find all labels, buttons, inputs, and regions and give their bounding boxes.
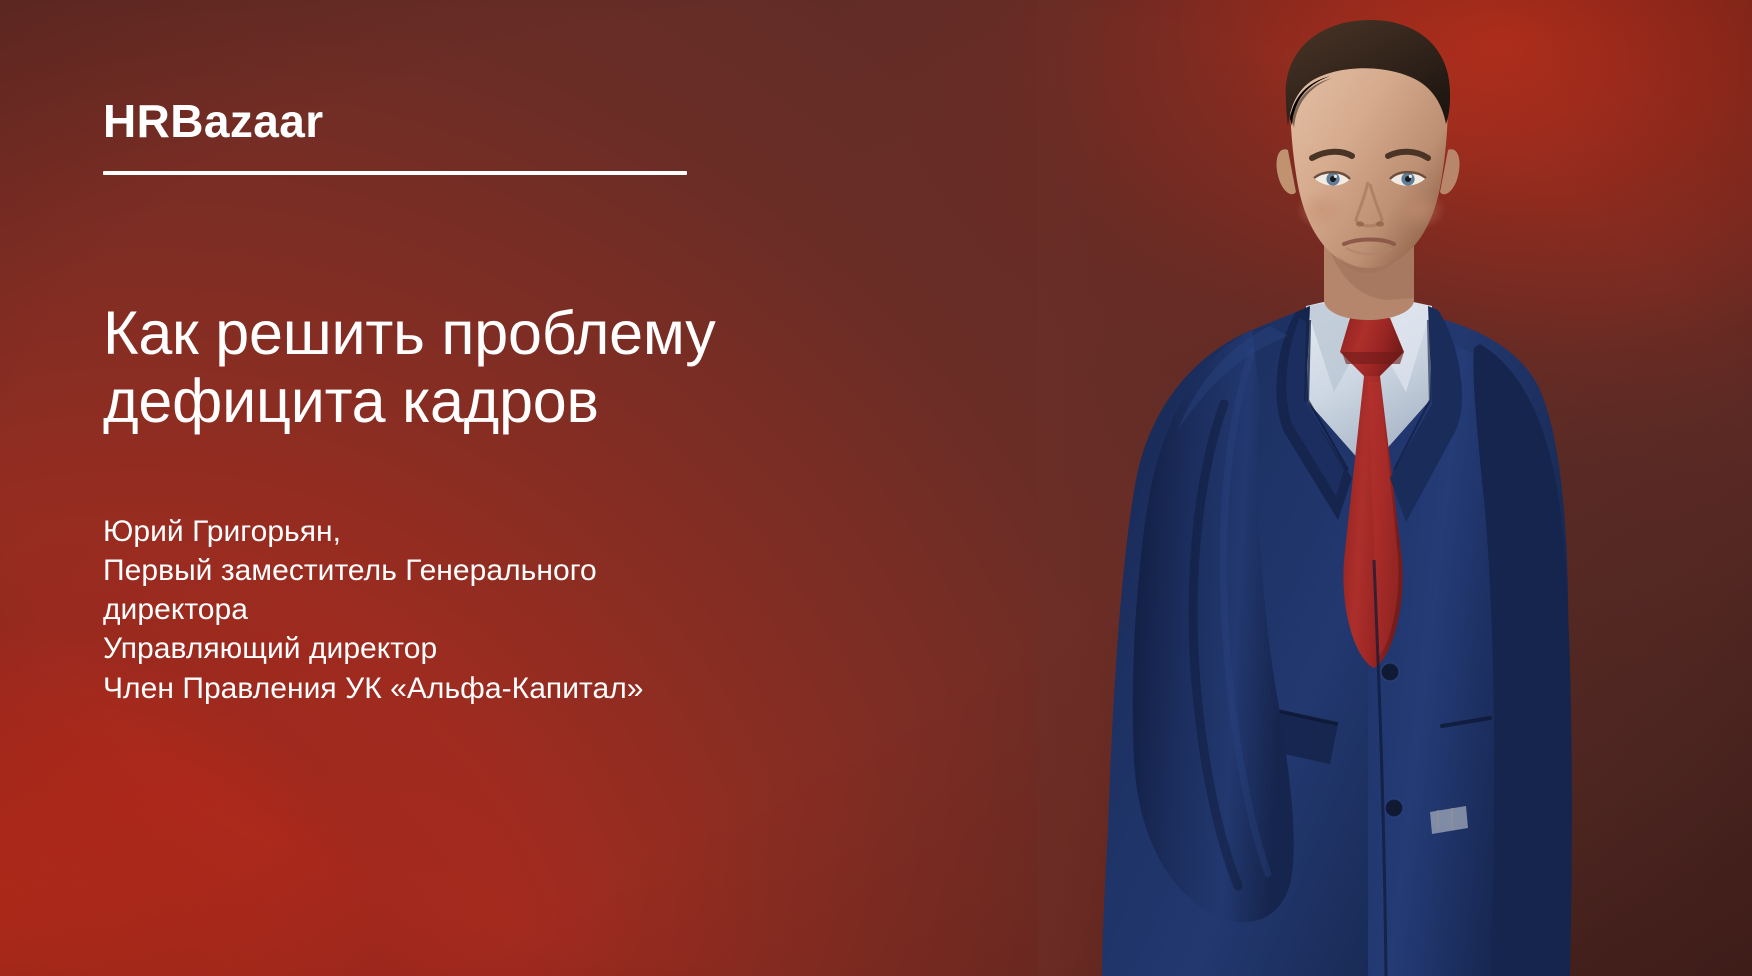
slide-title: Как решить проблему дефицита кадров — [103, 300, 933, 435]
brand-divider-line — [103, 171, 687, 175]
speaker-role-line-2: директора — [103, 590, 933, 629]
presentation-slide: HRBazaar Как решить проблему дефицита ка… — [0, 0, 1752, 976]
brand-logo-text: HRBazaar — [103, 97, 687, 145]
speaker-name: Юрий Григорьян, — [103, 512, 933, 551]
slide-text-column: HRBazaar Как решить проблему дефицита ка… — [103, 0, 1003, 976]
speaker-role-line-1: Первый заместитель Генерального — [103, 551, 933, 590]
speaker-role-line-3: Управляющий директор — [103, 629, 933, 668]
slide-title-line-1: Как решить проблему — [103, 300, 933, 368]
slide-title-line-2: дефицита кадров — [103, 368, 933, 436]
brand-logo-block: HRBazaar — [103, 97, 687, 175]
speaker-company-line: Член Правления УК «Альфа-Капитал» — [103, 669, 933, 708]
speaker-info-block: Юрий Григорьян, Первый заместитель Генер… — [103, 512, 933, 708]
